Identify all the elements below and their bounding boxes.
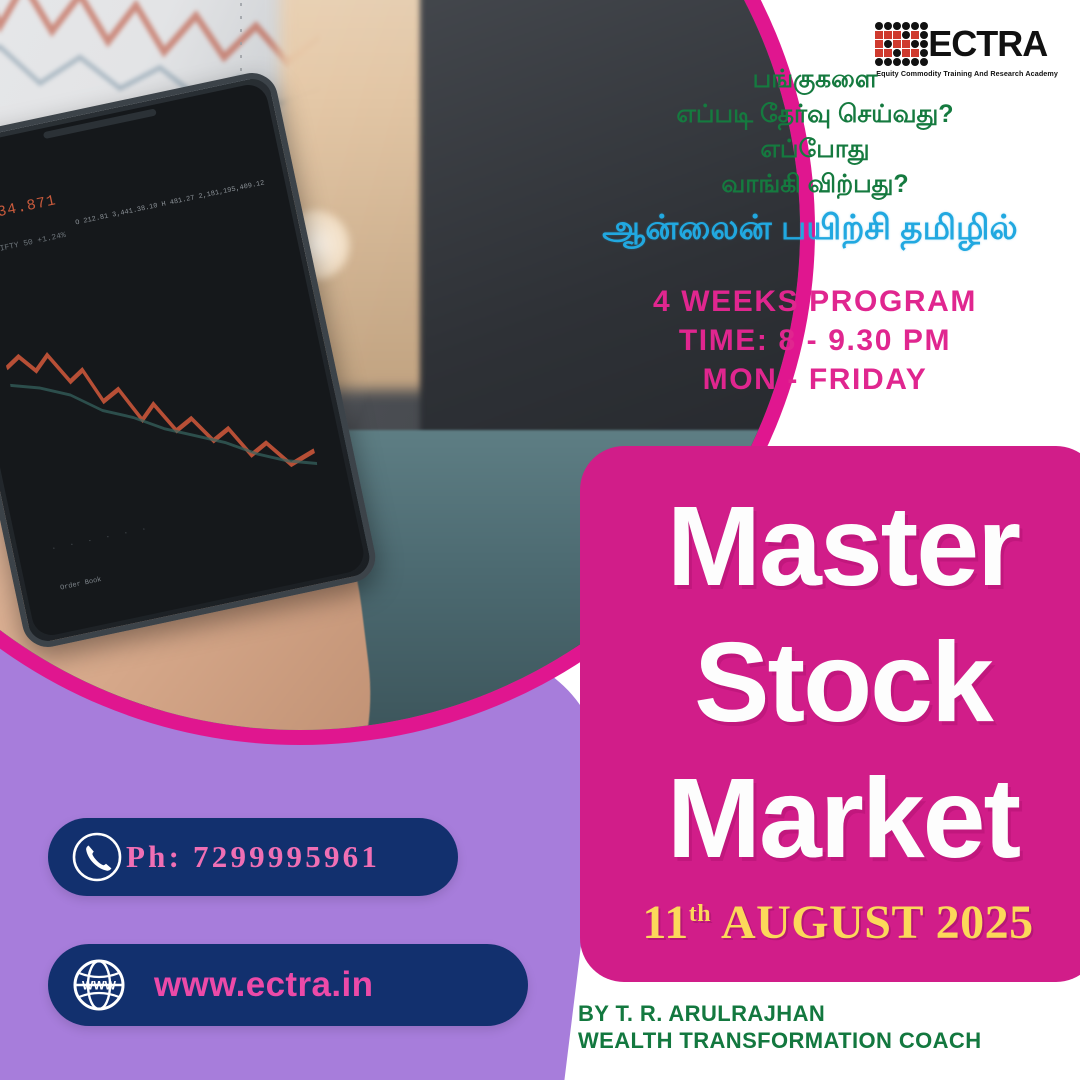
phone-icon (70, 830, 124, 884)
phone-quote-rows: O 212.81 3,441.38.10 H 481.27 2,181,195,… (74, 178, 265, 229)
tamil-question-line-4: வாங்கி விற்பது? (560, 167, 1070, 202)
byline-role: WEALTH TRANSFORMATION COACH (578, 1027, 1078, 1054)
tamil-online-subheading: ஆன்லைன் பயிற்சி தமிழில் (540, 206, 1080, 250)
program-duration: 4 WEEKS PROGRAM (560, 282, 1070, 321)
phone-orderbook-label: Order Book (60, 576, 103, 593)
phone-subtext: NIFTY 50 +1.24% (0, 230, 67, 254)
website-contact-pill[interactable]: WWW www.ectra.in (48, 944, 528, 1026)
program-time: TIME: 8 - 9.30 PM (560, 321, 1070, 360)
byline-name: BY T. R. ARULRAJHAN (578, 1000, 1078, 1027)
byline: BY T. R. ARULRAJHAN WEALTH TRANSFORMATIO… (578, 1000, 1078, 1054)
event-date-day: 11 (642, 896, 688, 949)
event-date: 11th AUGUST 2025 (598, 895, 1078, 950)
logo-wordmark: ECTRA (928, 27, 1047, 60)
page-title: Master Stock Market (598, 478, 1080, 886)
phone-number-label: Ph: 7299995961 (126, 839, 380, 875)
tamil-question-line-3: எப்போது (560, 132, 1070, 167)
tamil-question-line-2: எப்படி தேர்வு செய்வது? (560, 97, 1070, 132)
dot-matrix-icon (875, 22, 928, 66)
title-line-3: Market (598, 750, 1080, 886)
tamil-question-heading: பங்குகளை எப்படி தேர்வு செய்வது? எப்போது … (560, 62, 1070, 202)
title-line-1: Master (598, 478, 1080, 614)
program-days: MON - FRIDAY (560, 360, 1070, 399)
svg-text:WWW: WWW (82, 979, 117, 993)
title-line-2: Stock (598, 614, 1080, 750)
phone-price-readout: 434.871 (0, 192, 58, 223)
program-details: 4 WEEKS PROGRAM TIME: 8 - 9.30 PM MON - … (560, 282, 1070, 399)
poster-canvas: 434.871 NIFTY 50 +1.24% O 212.81 3,441.3… (0, 0, 1080, 1080)
phone-contact-pill[interactable]: Ph: 7299995961 (48, 818, 458, 896)
website-url-label: www.ectra.in (154, 965, 373, 1005)
phone-chart-icon (0, 262, 320, 535)
event-date-rest: AUGUST 2025 (721, 896, 1034, 949)
tamil-question-line-1: பங்குகளை (560, 62, 1070, 97)
event-date-ordinal: th (689, 901, 711, 927)
globe-www-icon: WWW (70, 956, 128, 1014)
